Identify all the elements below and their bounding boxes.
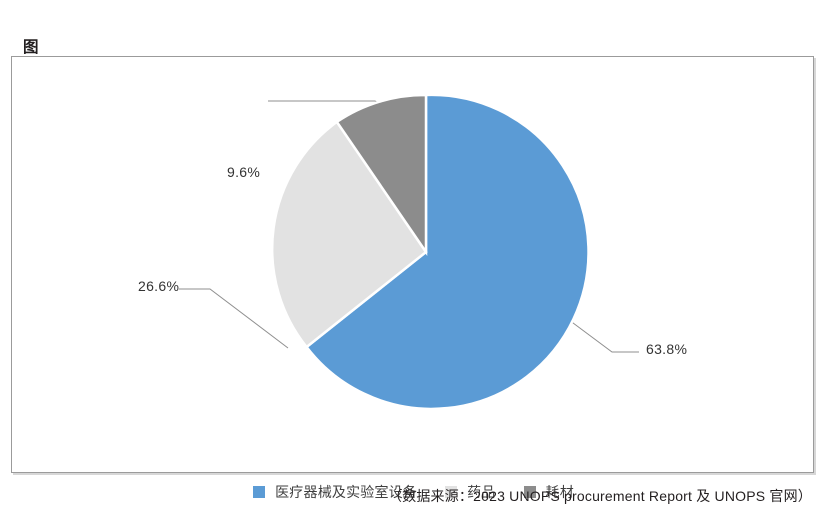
pie-slices: [272, 95, 588, 409]
pie-chart-svg: [12, 57, 815, 474]
source-note: （数据来源：2023 UNOPS procurement Report 及 UN…: [0, 486, 812, 506]
pie-chart-plot: [12, 57, 815, 474]
chart-frame: 9.6% 26.6% 63.8% 医疗器械及实验室设备 药品 耗材: [11, 56, 814, 473]
data-label-consumables: 9.6%: [227, 164, 260, 180]
data-label-devices: 63.8%: [646, 341, 687, 357]
leader-line-pharma: [179, 289, 288, 348]
figure-label: 图: [23, 39, 39, 56]
data-label-pharma: 26.6%: [138, 278, 179, 294]
